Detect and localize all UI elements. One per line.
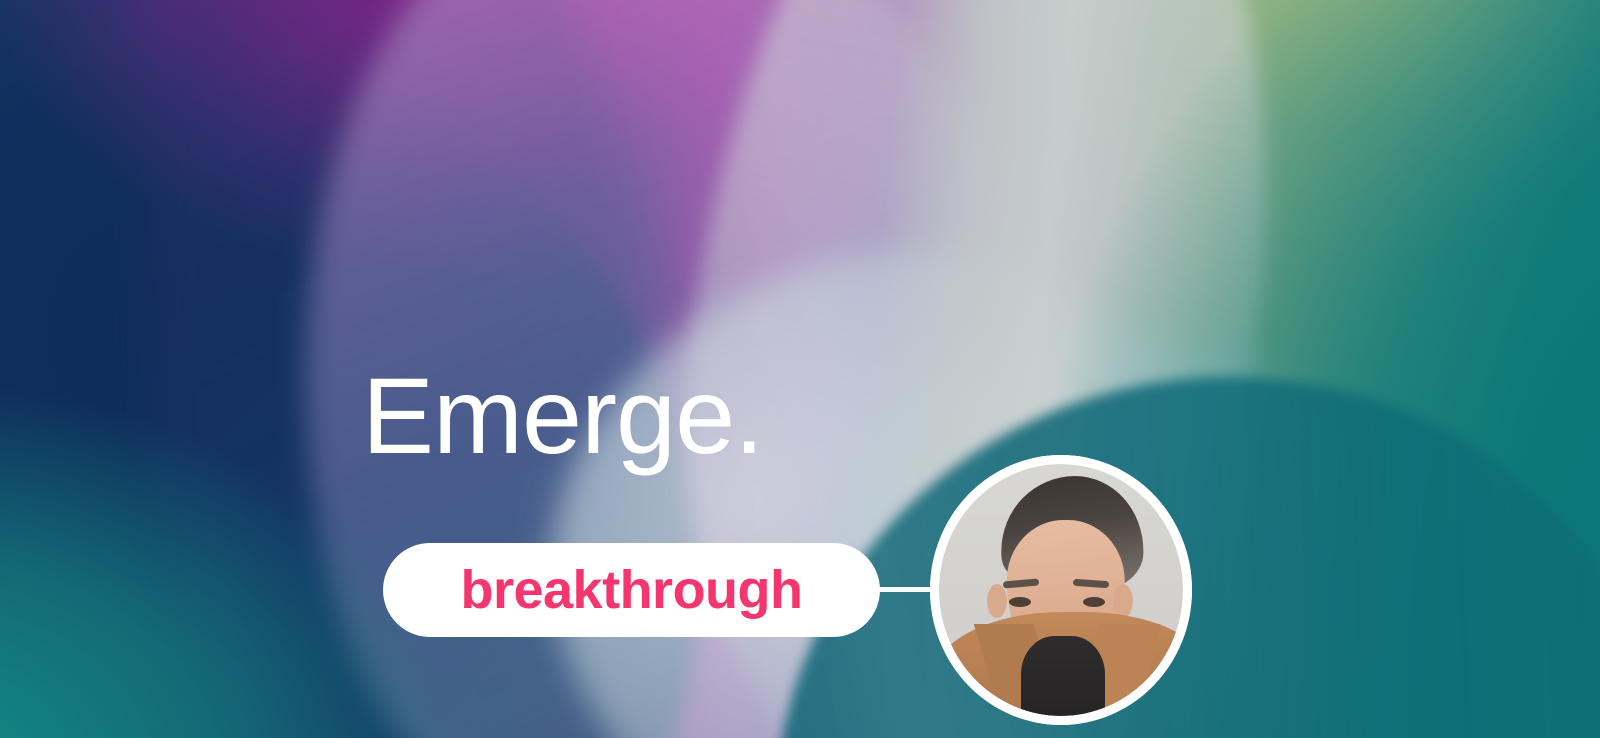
portrait-ear-right	[1113, 584, 1133, 618]
avatar[interactable]	[930, 455, 1192, 725]
portrait-eye-left	[1009, 597, 1031, 607]
portrait-eye-right	[1083, 597, 1105, 607]
breakthrough-badge-label: breakthrough	[460, 563, 802, 617]
portrait-shirt	[1021, 636, 1105, 716]
portrait-ear-left	[987, 584, 1007, 618]
badge-avatar-connector-line	[876, 587, 938, 592]
avatar-photo	[939, 464, 1183, 716]
breakthrough-badge[interactable]: breakthrough	[383, 543, 880, 637]
promo-banner: Emerge. Rise. Progress. breakthrough	[0, 0, 1600, 738]
